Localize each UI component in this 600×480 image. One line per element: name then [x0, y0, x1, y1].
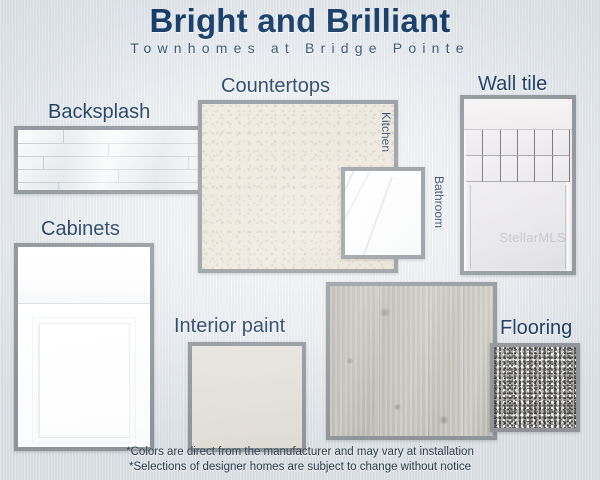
label-bathroom: Bathroom [432, 176, 446, 228]
cabinet-door [18, 304, 150, 447]
sample-wall-tile: StellarMLS [460, 95, 576, 275]
label-interior-paint: Interior paint [174, 315, 285, 338]
design-selection-board: Bright and Brilliant Townhomes at Bridge… [0, 0, 600, 480]
sample-flooring-wood [326, 282, 497, 440]
wall-tile-header-band [464, 99, 572, 130]
page-title: Bright and Brilliant [0, 4, 600, 39]
page-subtitle: Townhomes at Bridge Pointe [0, 40, 600, 56]
label-wall-tile: Wall tile [478, 73, 547, 96]
wall-tile-grid [466, 130, 570, 182]
sample-flooring-carpet [490, 343, 580, 432]
cabinet-drawer-front [18, 247, 150, 304]
disclaimer-line-2: *Selections of designer homes are subjec… [0, 460, 600, 475]
label-countertops: Countertops [221, 75, 330, 98]
watermark: StellarMLS [499, 230, 566, 245]
label-backsplash: Backsplash [48, 101, 150, 124]
label-kitchen: Kitchen [379, 112, 393, 152]
sample-cabinet [14, 243, 154, 451]
sample-countertop-bathroom [341, 167, 425, 259]
wall-tile-panel [470, 185, 566, 269]
disclaimer: *Colors are direct from the manufacturer… [0, 445, 600, 475]
sample-interior-paint [188, 342, 306, 452]
label-flooring: Flooring [500, 317, 572, 340]
disclaimer-line-1: *Colors are direct from the manufacturer… [0, 445, 600, 460]
label-cabinets: Cabinets [41, 218, 120, 241]
